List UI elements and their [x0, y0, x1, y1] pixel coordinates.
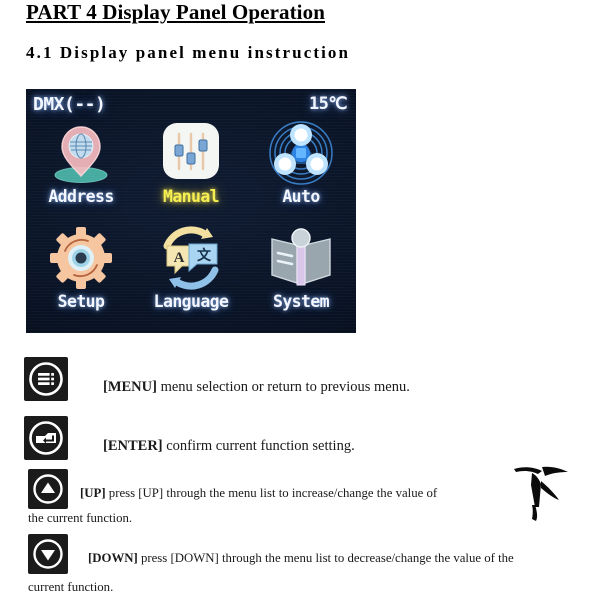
panel-menu-label: Setup [58, 292, 105, 311]
display-panel-screenshot: DMX(--) 15℃ [25, 88, 357, 334]
triangle-down-icon [31, 537, 65, 571]
hamburger-menu-icon [27, 360, 65, 398]
down-button[interactable] [28, 534, 68, 574]
panel-menu-item-address[interactable]: Address [26, 117, 136, 222]
enter-button[interactable] [24, 416, 68, 460]
svg-text:文: 文 [197, 247, 212, 264]
button-row-enter: [ENTER] confirm current function setting… [24, 416, 355, 460]
menu-key-label: [MENU] [103, 379, 157, 395]
spinner-rings-icon [263, 117, 339, 189]
enter-key-label: [ENTER] [103, 438, 163, 454]
down-description-line2: current function. [28, 580, 113, 595]
translate-icon: A 文 [153, 222, 229, 294]
panel-menu-item-language[interactable]: A 文 Language [136, 222, 246, 327]
open-book-icon [263, 222, 339, 294]
menu-button-description: [MENU] menu selection or return to previ… [103, 379, 410, 396]
triangle-up-icon [31, 472, 65, 506]
panel-menu-item-system[interactable]: System [246, 222, 356, 327]
panel-menu-label: Manual [163, 187, 219, 206]
button-row-up: [UP] press [UP] through the menu list to… [28, 469, 498, 509]
enter-desc-text: confirm current function setting. [166, 438, 354, 454]
enter-return-icon [27, 419, 65, 457]
temperature-label: 15℃ [309, 94, 347, 114]
up-description-line2: the current function. [28, 511, 132, 526]
sliders-icon [153, 117, 229, 189]
panel-menu-label: Language [154, 292, 229, 311]
down-key-label: [DOWN] [88, 551, 138, 565]
menu-desc-text: menu selection or return to previous men… [161, 379, 410, 395]
panel-menu-item-manual[interactable]: Manual [136, 117, 246, 222]
location-pin-icon [43, 117, 119, 189]
dmx-status-label: DMX(--) [33, 94, 105, 115]
down-desc-text: press [DOWN] through the menu list to de… [141, 551, 514, 565]
menu-button[interactable] [24, 357, 68, 401]
panel-menu-item-auto[interactable]: Auto [246, 117, 356, 222]
gear-icon [43, 222, 119, 294]
down-button-description: [DOWN] press [DOWN] through the menu lis… [88, 545, 514, 571]
up-button[interactable] [28, 469, 68, 509]
panel-menu-label: Auto [282, 187, 319, 206]
svg-text:A: A [174, 250, 185, 266]
page-title: PART 4 Display Panel Operation [26, 0, 325, 25]
panel-menu-item-setup[interactable]: Setup [26, 222, 136, 327]
enter-button-description: [ENTER] confirm current function setting… [103, 438, 355, 455]
panel-menu-label: System [273, 292, 329, 311]
button-row-down: [DOWN] press [DOWN] through the menu lis… [28, 534, 573, 574]
button-row-menu: [MENU] menu selection or return to previ… [24, 357, 410, 401]
up-desc-text: press [UP] through the menu list to incr… [109, 486, 437, 500]
panel-menu-grid: Address Manua [26, 117, 356, 327]
up-button-description: [UP] press [UP] through the menu list to… [80, 480, 437, 506]
up-key-label: [UP] [80, 486, 106, 500]
section-title: 4.1 Display panel menu instruction [26, 43, 350, 63]
panel-menu-label: Address [48, 187, 113, 206]
bird-silhouette-icon [512, 463, 574, 533]
